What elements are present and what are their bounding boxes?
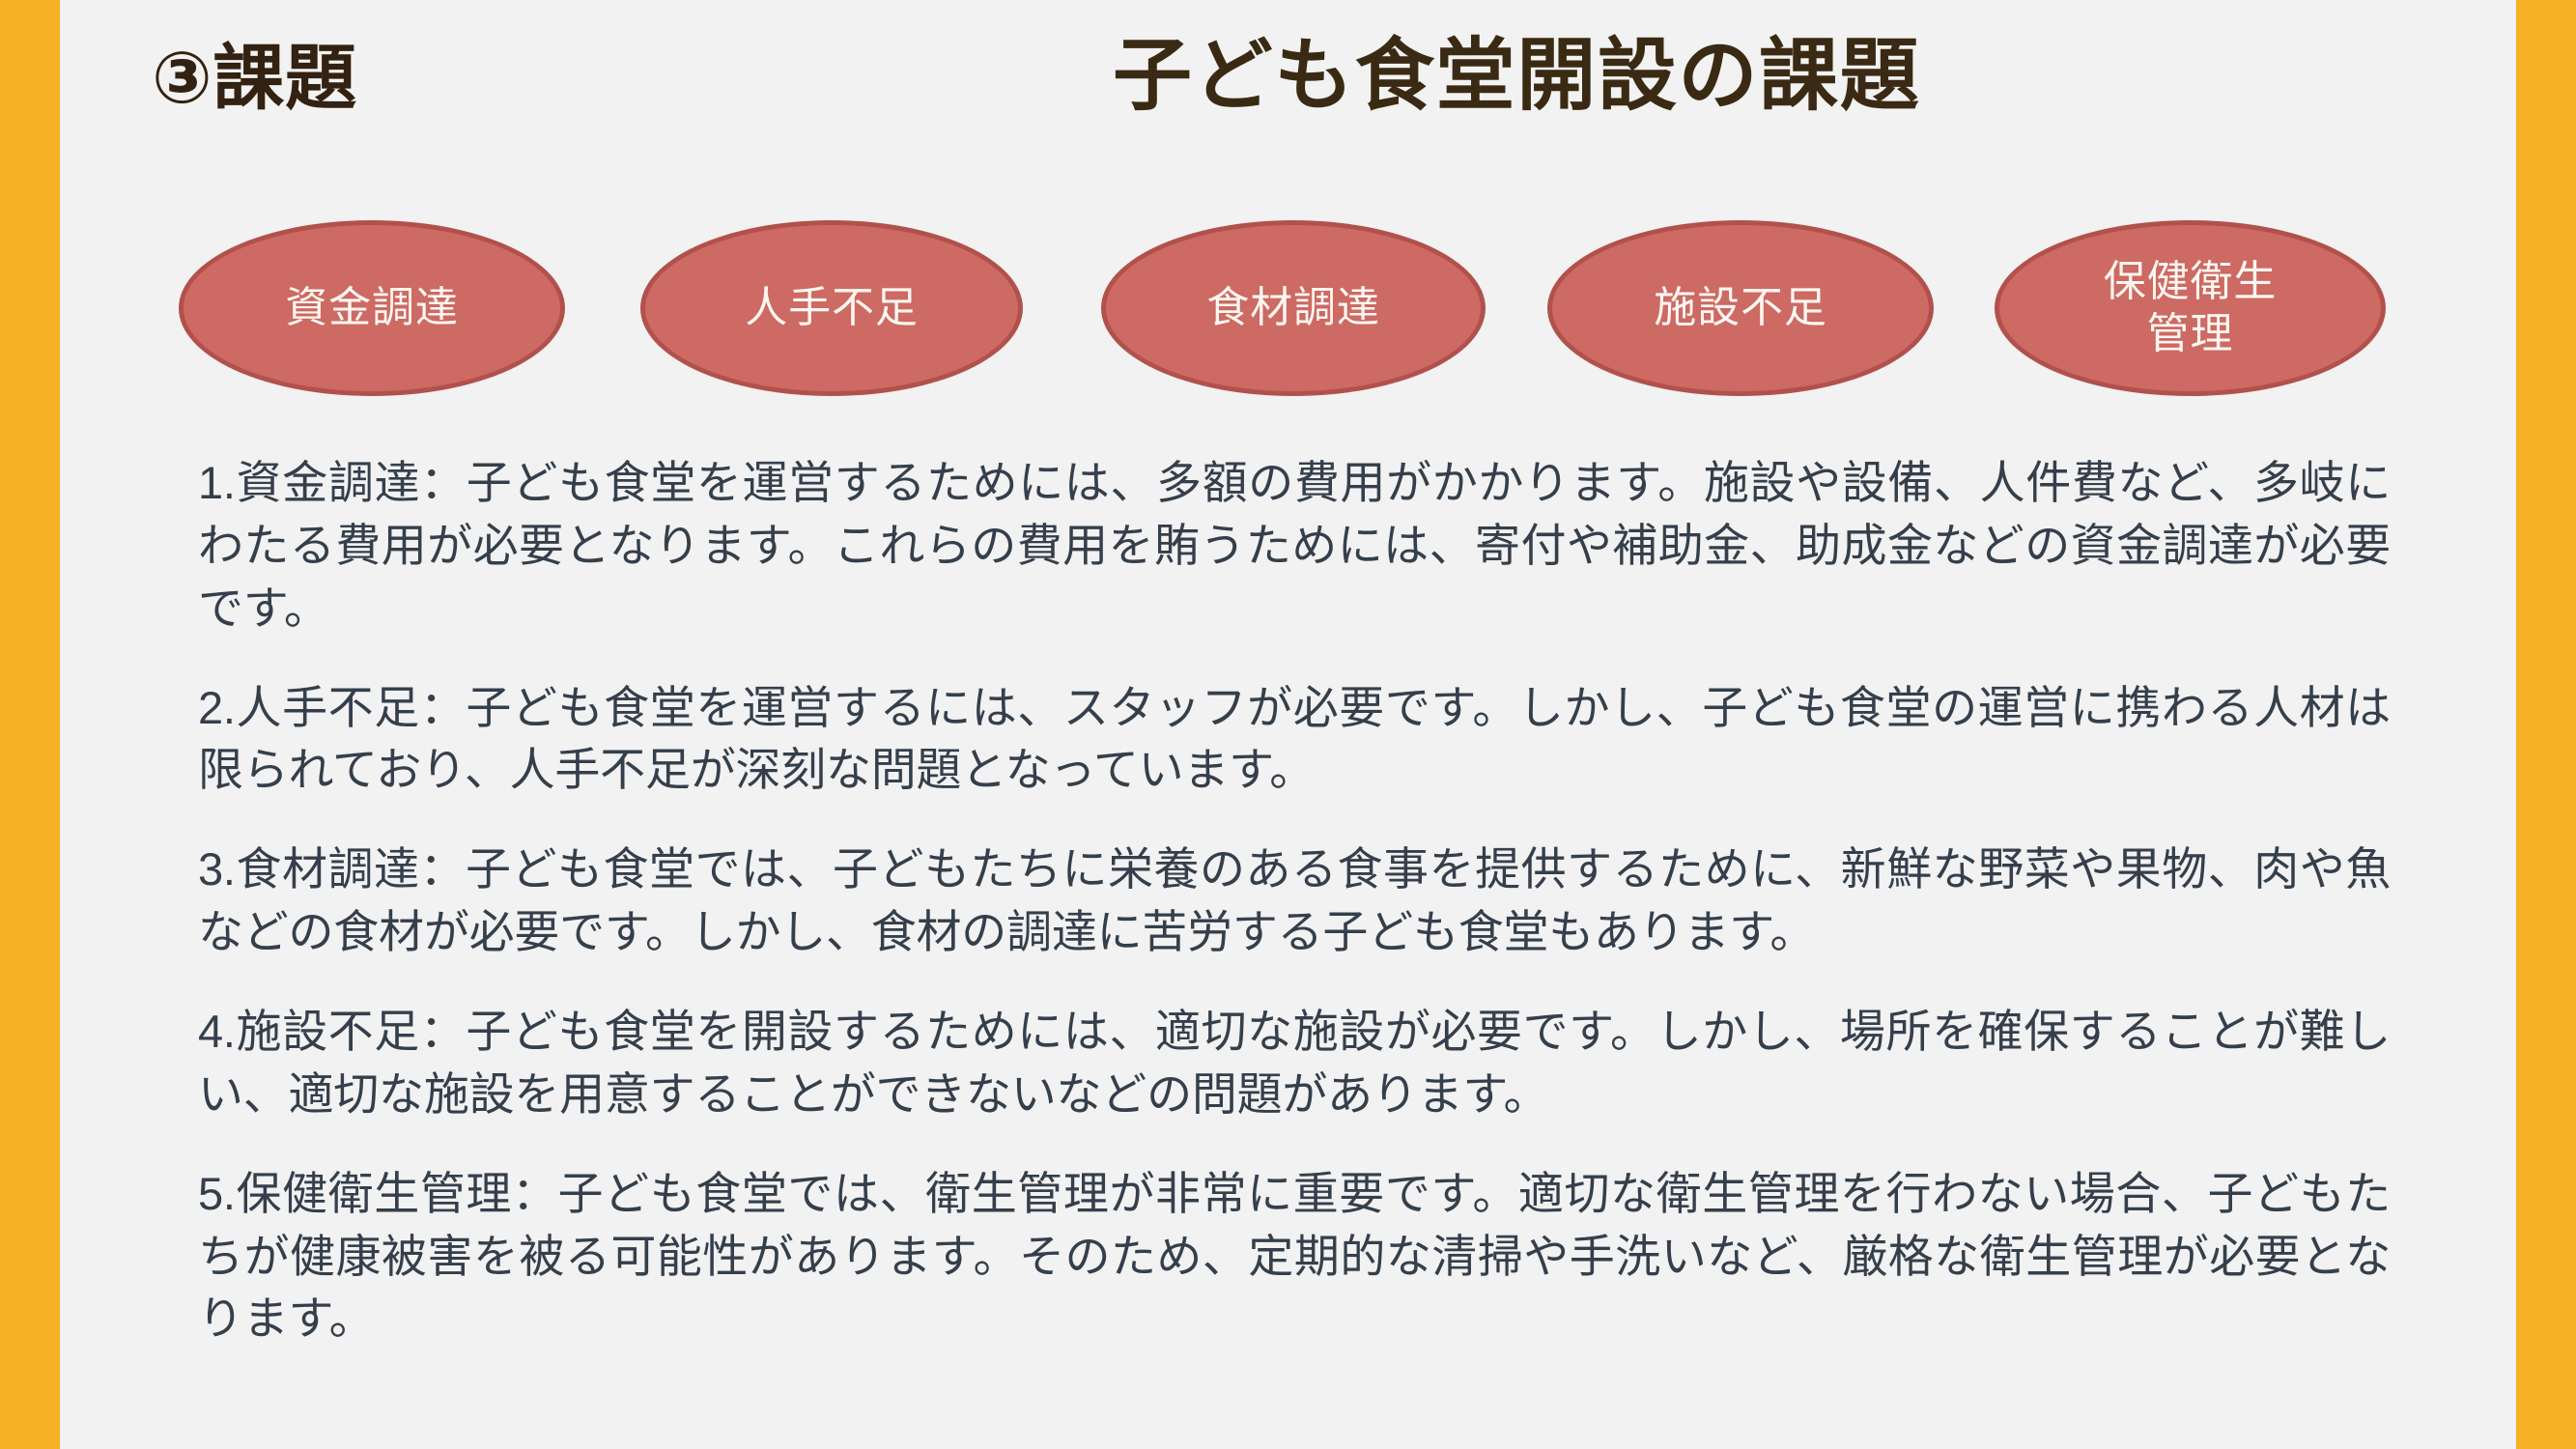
ellipse-facilities[interactable]: 施設不足: [1547, 220, 1934, 396]
challenge-ellipse-row: 資金調達 人手不足 食材調達 施設不足 保健衛生 管理: [0, 220, 2576, 399]
ellipse-label-manpower: 人手不足: [745, 282, 919, 334]
presentation-slide: ③課題 子ども食堂開設の課題 資金調達 人手不足 食材調達 施設不足 保健衛生 …: [0, 0, 2576, 1449]
ellipse-manpower[interactable]: 人手不足: [640, 220, 1023, 396]
ellipse-ingredients[interactable]: 食材調達: [1101, 220, 1486, 396]
ellipse-label-hygiene-line1: 保健衛生: [2104, 256, 2278, 308]
paragraph-facilities: 4.施設不足：子ども食堂を開設するためには、適切な施設が必要です。しかし、場所を…: [198, 1001, 2391, 1126]
ellipse-hygiene[interactable]: 保健衛生 管理: [1995, 220, 2386, 396]
paragraph-ingredients: 3.食材調達：子ども食堂では、子どもたちに栄養のある食事を提供するために、新鮮な…: [198, 838, 2391, 964]
ellipse-label-hygiene-line2: 管理: [2104, 308, 2278, 360]
accent-bar-left: [0, 0, 60, 1449]
ellipse-label-ingredients: 食材調達: [1206, 282, 1380, 334]
ellipse-funding[interactable]: 資金調達: [179, 220, 565, 396]
paragraph-funding: 1.資金調達：子ども食堂を運営するためには、多額の費用がかかります。施設や設備、…: [198, 452, 2391, 640]
page-title: 子ども食堂開設の課題: [1113, 37, 1920, 116]
accent-bar-right: [2516, 0, 2576, 1449]
section-label: ③課題: [152, 43, 357, 114]
ellipse-label-funding: 資金調達: [285, 282, 459, 334]
challenge-description-list: 1.資金調達：子ども食堂を運営するためには、多額の費用がかかります。施設や設備、…: [198, 452, 2391, 1350]
ellipse-label-facilities: 施設不足: [1654, 282, 1827, 334]
slide-header: ③課題 子ども食堂開設の課題: [60, 0, 2516, 193]
paragraph-manpower: 2.人手不足：子ども食堂を運営するには、スタッフが必要です。しかし、子ども食堂の…: [198, 677, 2391, 803]
ellipse-label-hygiene: 保健衛生 管理: [2104, 256, 2278, 359]
paragraph-hygiene: 5.保健衛生管理：子ども食堂では、衛生管理が非常に重要です。適切な衛生管理を行わ…: [198, 1163, 2391, 1351]
